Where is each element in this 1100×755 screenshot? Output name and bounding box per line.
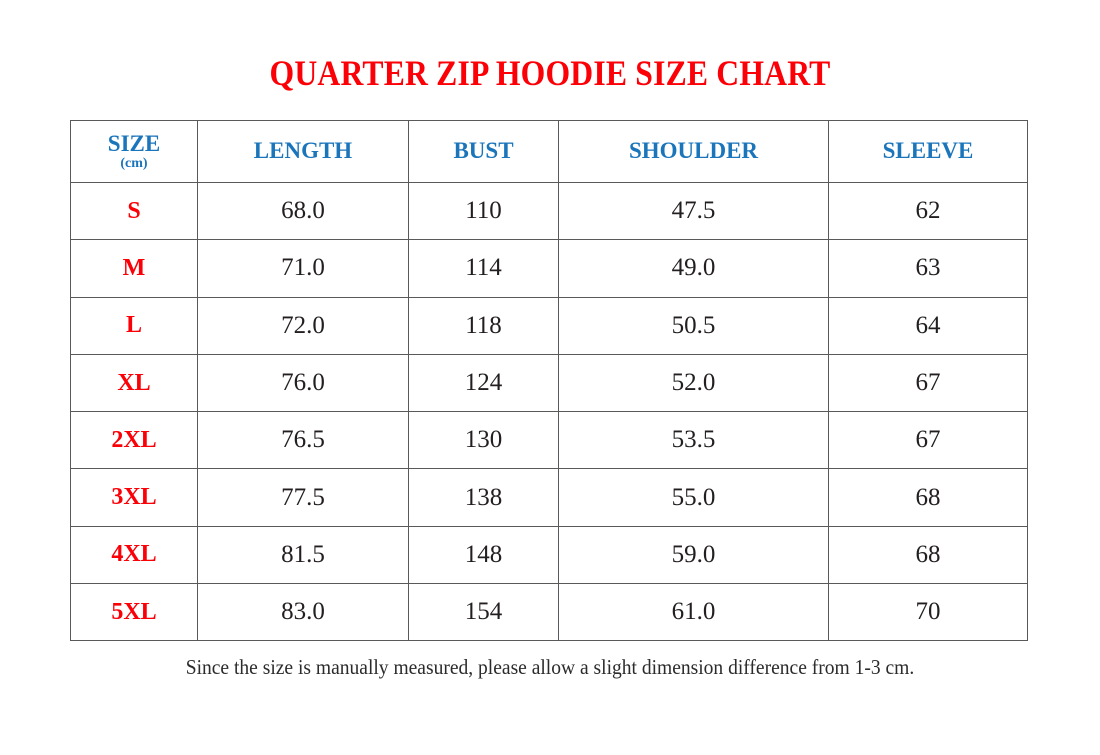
column-header-size-unit: (cm) (120, 157, 147, 171)
cell-bust: 130 (409, 412, 559, 469)
table-row: S 68.0 110 47.5 62 (71, 183, 1028, 240)
column-header-length: LENGTH (198, 121, 409, 183)
cell-bust: 118 (409, 297, 559, 354)
table-header-row: SIZE (cm) LENGTH BUST SHOULDER SLEEVE (71, 121, 1028, 183)
table-row: 5XL 83.0 154 61.0 70 (71, 584, 1028, 641)
table-row: 3XL 77.5 138 55.0 68 (71, 469, 1028, 526)
cell-sleeve: 67 (829, 412, 1028, 469)
cell-sleeve: 64 (829, 297, 1028, 354)
cell-sleeve: 68 (829, 469, 1028, 526)
cell-size: 3XL (71, 469, 198, 526)
cell-size: 2XL (71, 412, 198, 469)
cell-bust: 124 (409, 354, 559, 411)
cell-size: L (71, 297, 198, 354)
cell-shoulder: 53.5 (559, 412, 829, 469)
cell-length: 72.0 (198, 297, 409, 354)
cell-length: 68.0 (198, 183, 409, 240)
size-chart-page: QUARTER ZIP HOODIE SIZE CHART SIZE (cm) … (0, 0, 1100, 755)
cell-shoulder: 61.0 (559, 584, 829, 641)
cell-size: S (71, 183, 198, 240)
column-header-size: SIZE (cm) (71, 121, 198, 183)
cell-size: 5XL (71, 584, 198, 641)
cell-size: 4XL (71, 526, 198, 583)
cell-bust: 138 (409, 469, 559, 526)
cell-sleeve: 63 (829, 240, 1028, 297)
cell-sleeve: 68 (829, 526, 1028, 583)
cell-shoulder: 55.0 (559, 469, 829, 526)
cell-shoulder: 50.5 (559, 297, 829, 354)
column-header-bust: BUST (409, 121, 559, 183)
column-header-shoulder: SHOULDER (559, 121, 829, 183)
cell-sleeve: 70 (829, 584, 1028, 641)
cell-shoulder: 47.5 (559, 183, 829, 240)
table-header: SIZE (cm) LENGTH BUST SHOULDER SLEEVE (71, 121, 1028, 183)
cell-shoulder: 59.0 (559, 526, 829, 583)
cell-bust: 148 (409, 526, 559, 583)
cell-shoulder: 49.0 (559, 240, 829, 297)
column-header-sleeve: SLEEVE (829, 121, 1028, 183)
table-row: 4XL 81.5 148 59.0 68 (71, 526, 1028, 583)
cell-size: XL (71, 354, 198, 411)
table-row: 2XL 76.5 130 53.5 67 (71, 412, 1028, 469)
cell-bust: 154 (409, 584, 559, 641)
column-header-size-label: SIZE (108, 132, 160, 155)
table-row: M 71.0 114 49.0 63 (71, 240, 1028, 297)
cell-bust: 110 (409, 183, 559, 240)
cell-shoulder: 52.0 (559, 354, 829, 411)
cell-size: M (71, 240, 198, 297)
cell-length: 81.5 (198, 526, 409, 583)
cell-sleeve: 67 (829, 354, 1028, 411)
cell-length: 76.0 (198, 354, 409, 411)
cell-bust: 114 (409, 240, 559, 297)
table-row: XL 76.0 124 52.0 67 (71, 354, 1028, 411)
cell-length: 83.0 (198, 584, 409, 641)
size-chart-table: SIZE (cm) LENGTH BUST SHOULDER SLEEVE S … (70, 120, 1028, 641)
cell-length: 71.0 (198, 240, 409, 297)
page-title: QUARTER ZIP HOODIE SIZE CHART (66, 52, 1034, 94)
cell-length: 77.5 (198, 469, 409, 526)
table-body: S 68.0 110 47.5 62 M 71.0 114 49.0 63 L … (71, 183, 1028, 641)
cell-length: 76.5 (198, 412, 409, 469)
measurement-disclaimer: Since the size is manually measured, ple… (39, 655, 1062, 680)
table-row: L 72.0 118 50.5 64 (71, 297, 1028, 354)
cell-sleeve: 62 (829, 183, 1028, 240)
